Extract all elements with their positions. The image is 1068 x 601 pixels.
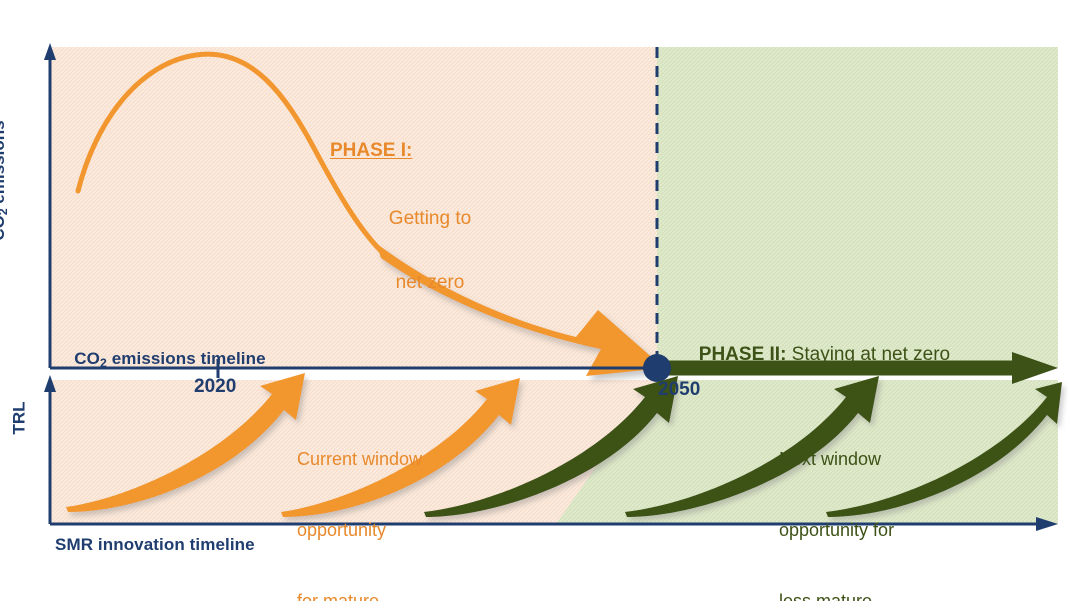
- phase2-body: Staying at net zero: [786, 344, 950, 365]
- phase1-heading: PHASE I:: [330, 139, 530, 162]
- next-window-note-line-1: Next window: [779, 448, 959, 472]
- current-window-note-line-2: opportunity: [297, 519, 457, 543]
- phase1-annotation: PHASE I: Getting to net zero: [330, 100, 530, 334]
- current-window-note-line-3: for mature: [297, 590, 457, 601]
- co2-timeline-label-prefix: CO: [74, 349, 100, 368]
- year-2020-label: 2020: [194, 375, 236, 398]
- diagram-canvas: CO2 emissions PHASE I: Getting to net ze…: [0, 0, 1068, 601]
- co2-timeline-label-suffix: emissions timeline: [107, 349, 266, 368]
- year-2050-label: 2050: [658, 378, 700, 401]
- phase1-line-2: net zero: [330, 271, 530, 294]
- co2-timeline-subscript: 2: [100, 356, 107, 370]
- co2-emissions-axis-label-prefix: CO: [0, 215, 8, 241]
- phase2-heading: PHASE II:: [699, 344, 787, 365]
- co2-subscript: 2: [0, 208, 10, 215]
- phase2-annotation: PHASE II: Staying at net zero: [681, 323, 950, 385]
- top-panel-phase2-background: [657, 47, 1058, 368]
- current-window-note: Current window opportunity for mature SM…: [297, 400, 457, 601]
- co2-emissions-axis-label: CO2 emissions: [0, 120, 30, 259]
- next-window-note: Next window opportunity for less mature …: [779, 400, 959, 601]
- trl-axis-label: TRL: [9, 401, 30, 434]
- next-window-note-line-2: opportunity for: [779, 519, 959, 543]
- current-window-note-line-1: Current window: [297, 448, 457, 472]
- phase1-line-1: Getting to: [330, 207, 530, 230]
- next-window-note-line-3: less mature: [779, 590, 959, 601]
- co2-emissions-axis-label-suffix: emissions: [0, 120, 8, 208]
- smr-innovation-timeline-label: SMR innovation timeline: [55, 535, 255, 556]
